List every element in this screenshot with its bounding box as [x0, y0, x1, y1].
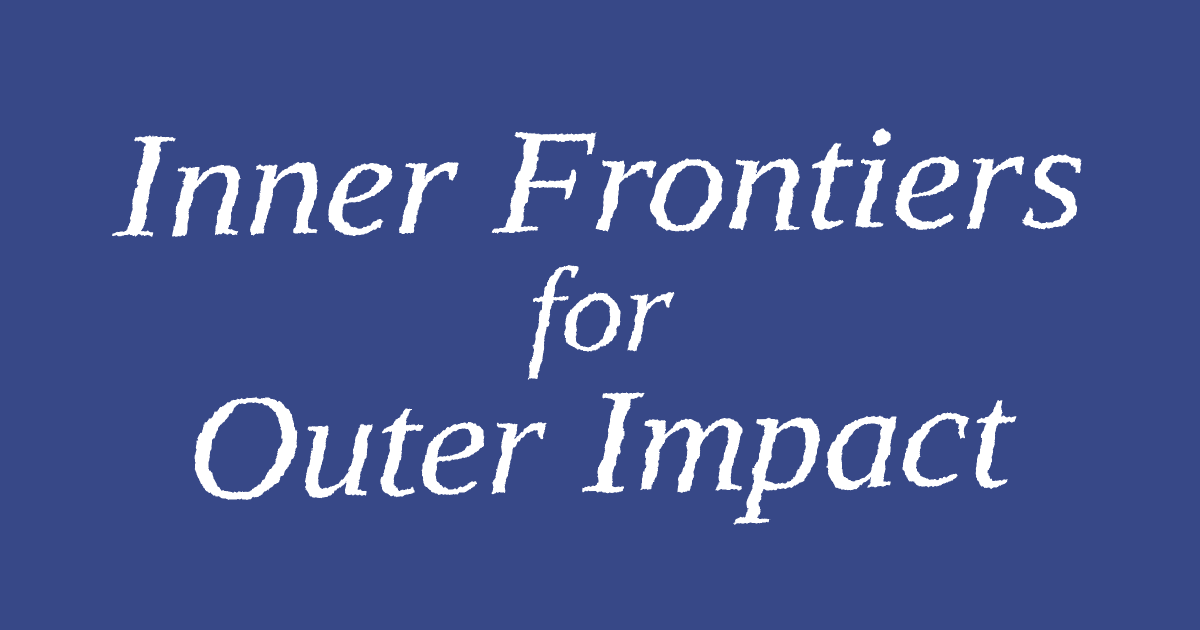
title-line-1: Inner Frontiers: [112, 107, 1088, 255]
title-block: Inner Frontiers for Outer Impact: [0, 0, 1200, 630]
title-line-2: for: [526, 253, 674, 369]
title-line-3: Outer Impact: [185, 366, 1014, 518]
title-card-canvas: Inner Frontiers for Outer Impact: [0, 0, 1200, 630]
